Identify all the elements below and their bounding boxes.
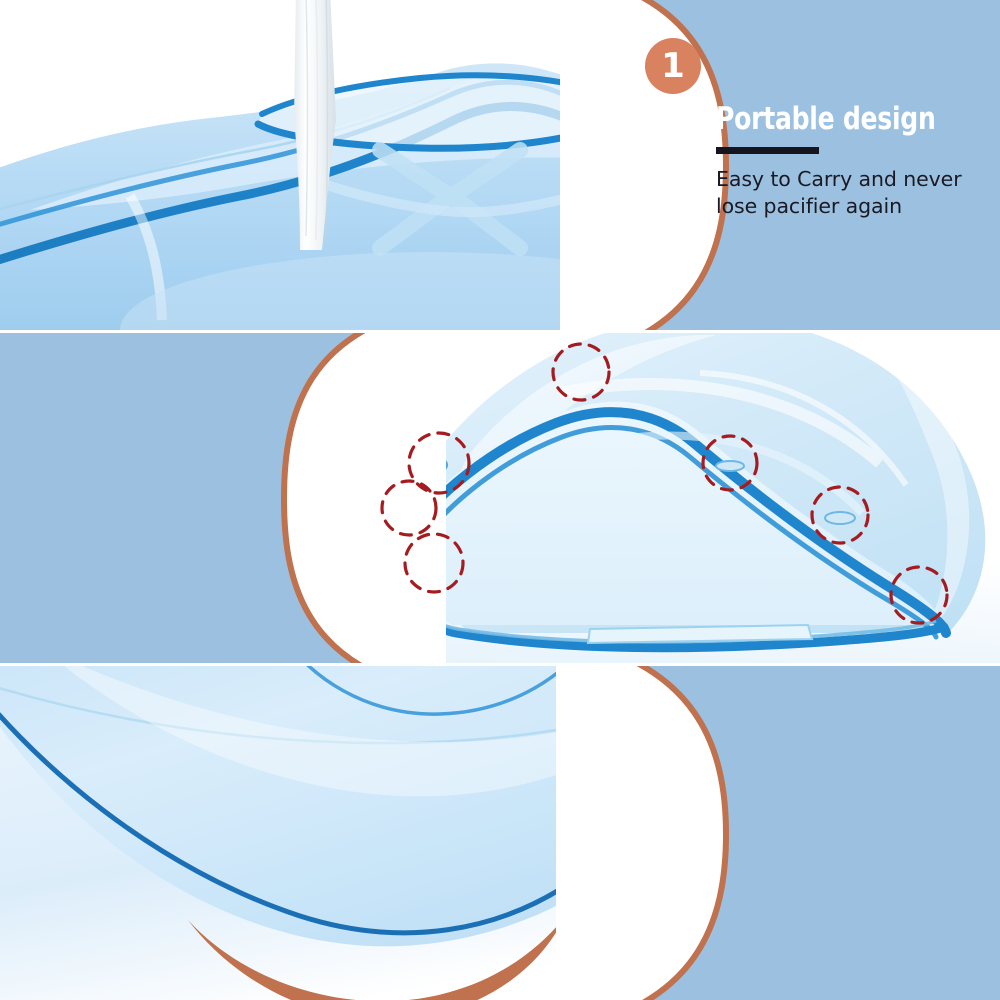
feature-panel-2: 2 Extending Buckle Design Made it more f… (0, 333, 1000, 663)
feature-number-badge-1: 1 (645, 38, 701, 94)
red-dashed-annotation-circle-6 (812, 487, 868, 543)
red-dashed-annotation-circle-4 (405, 534, 463, 592)
red-dashed-annotation-circle-7 (891, 567, 947, 623)
eggshell-body (0, 666, 683, 946)
buckle-annotation-overlay (0, 333, 1000, 663)
badge-number-1: 1 (661, 49, 685, 83)
feature-text-1: Portable design Easy to Carry and never … (716, 103, 986, 220)
panel-divider-1 (0, 330, 1000, 333)
feature-panel-3: 3 Egg shell design The design principle … (0, 666, 1000, 1000)
infographic-board: 1 Portable design Easy to Carry and neve… (0, 0, 1000, 1000)
red-dashed-annotation-circle-3 (382, 481, 436, 535)
panel-3-text-field (640, 666, 1000, 1000)
feature-title-1: Portable design (716, 103, 959, 136)
red-dashed-annotation-circle-1 (553, 344, 609, 400)
title-underline-1 (716, 147, 819, 154)
feature-panel-1: 1 Portable design Easy to Carry and neve… (0, 0, 1000, 330)
red-dashed-annotation-circle-2 (409, 433, 469, 493)
panel-divider-2 (0, 663, 1000, 666)
feature-body-1: Easy to Carry and never lose pacifier ag… (716, 166, 986, 219)
red-dashed-annotation-circle-5 (703, 436, 757, 490)
